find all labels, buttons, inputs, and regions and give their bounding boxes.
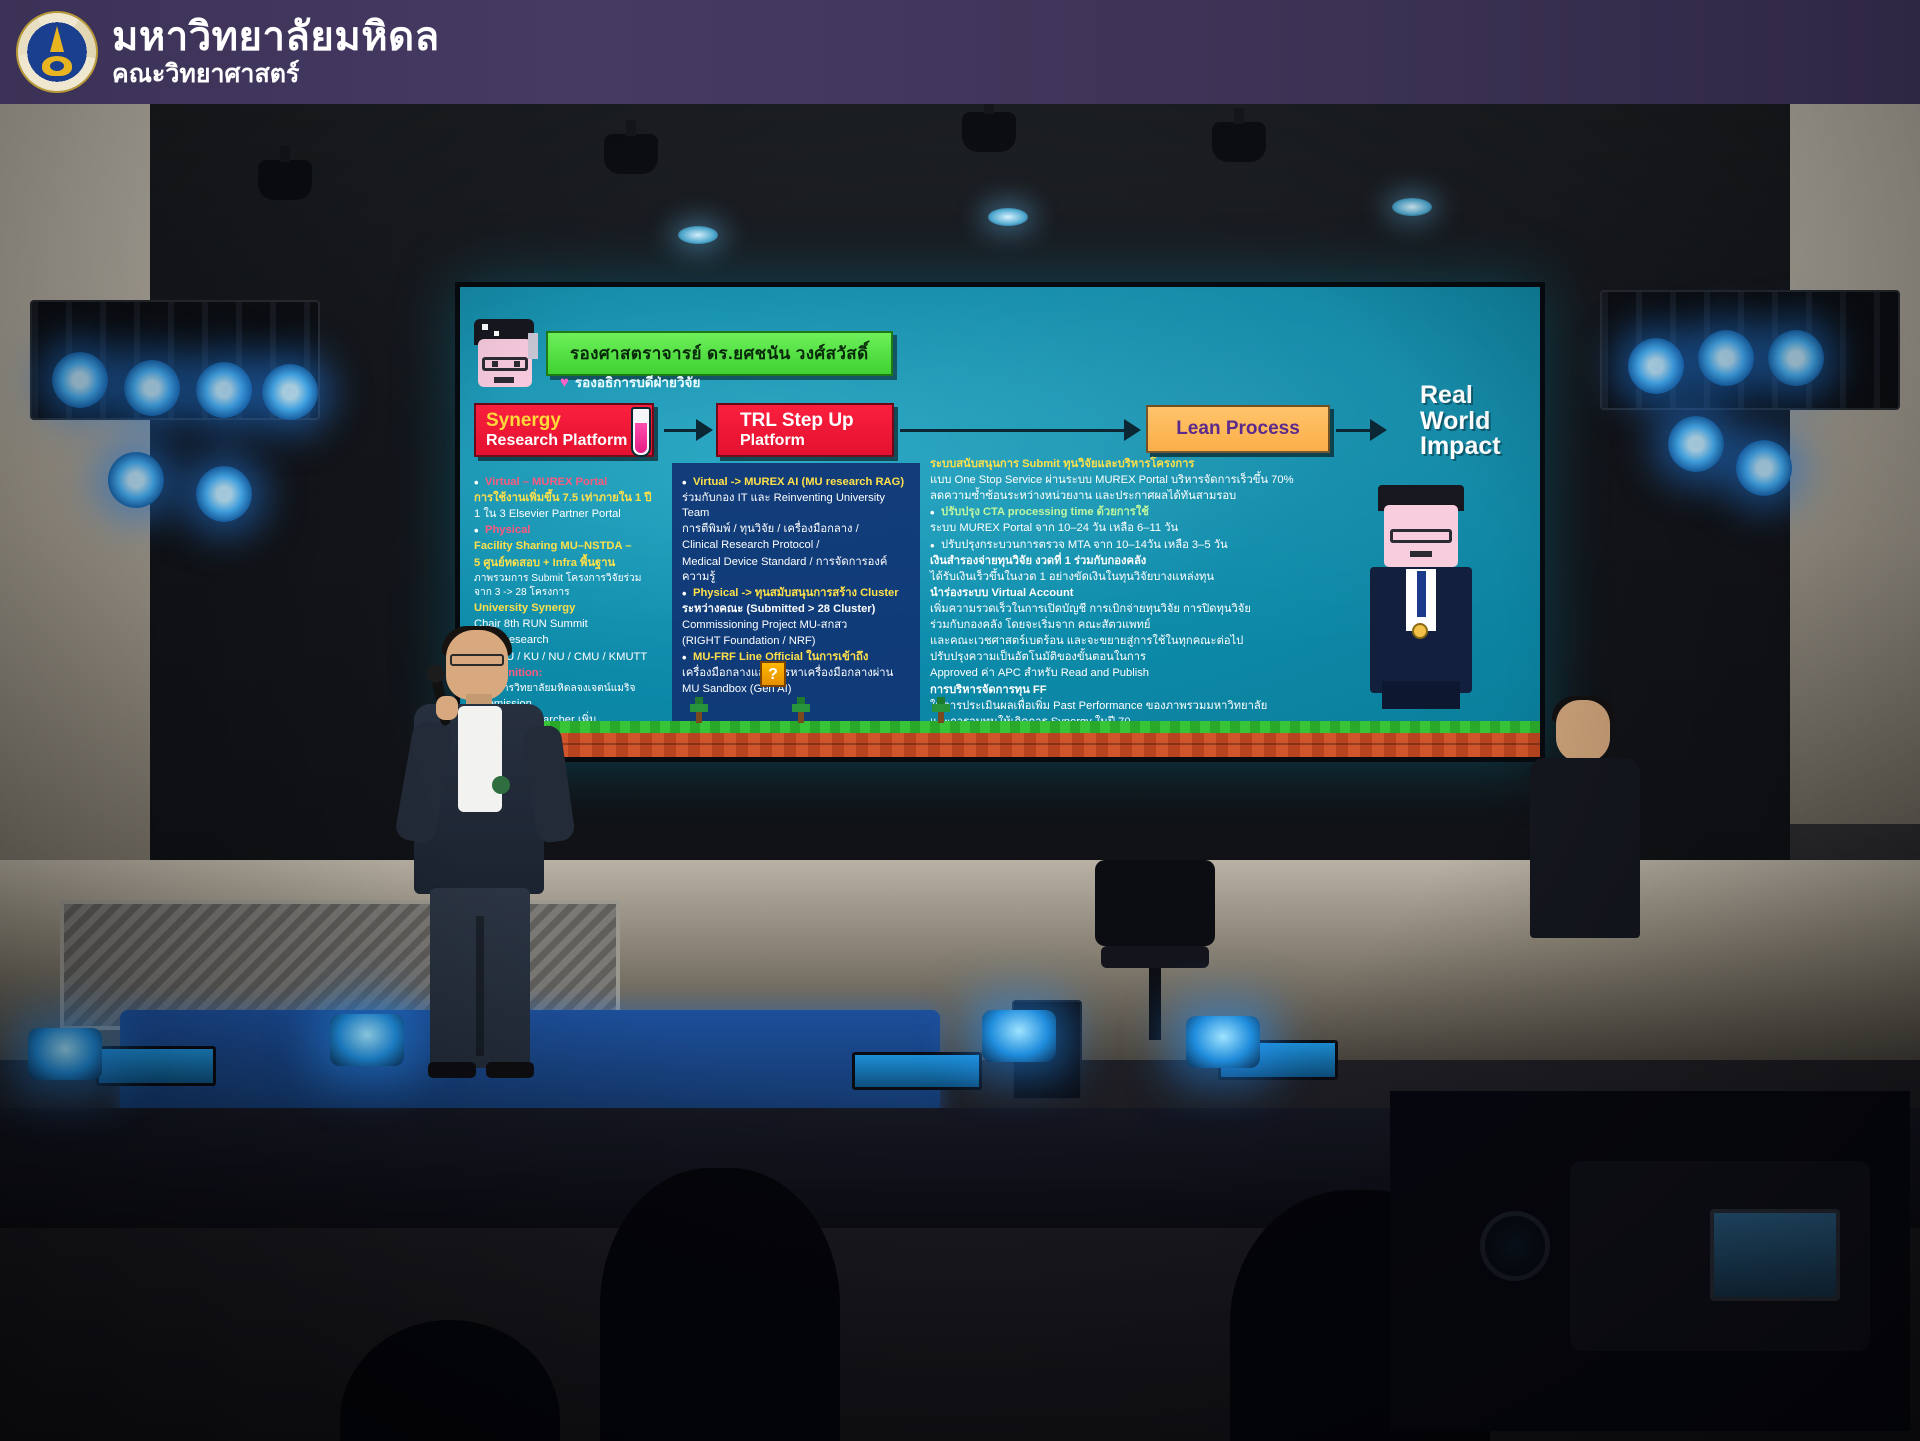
slide-column-middle: Virtual -> MUREX AI (MU research RAG)ร่ว… (672, 463, 920, 735)
spotlight-icon (1212, 122, 1266, 162)
test-tube-icon (631, 407, 651, 457)
slide-text-line: MU Sandbox (Gen AI) (682, 682, 910, 697)
slide-text-line: Medical Device Standard / การจัดการองค์ค… (682, 555, 910, 585)
stage-monitor (852, 1052, 982, 1090)
slide-text-line: แบบ One Stop Service ผ่านระบบ MUREX Port… (930, 473, 1350, 488)
faculty-name: คณะวิทยาศาสตร์ (112, 61, 440, 87)
stage-light-icon (1736, 440, 1792, 496)
slide-text-line: Clinical Research Protocol / (682, 538, 910, 553)
stage-monitor (96, 1046, 216, 1086)
camera-viewfinder-screen (1710, 1209, 1840, 1301)
spotlight-icon (258, 160, 312, 200)
stage-light-icon (1668, 416, 1724, 472)
pixel-avatar-icon (472, 319, 538, 391)
arrow-icon (1370, 419, 1387, 441)
slide-text-line: และคณะเวชศาสตร์เบตร้อน และจะขยายสู่การใช… (930, 634, 1350, 649)
question-block-icon: ? (760, 661, 786, 687)
stage-light-icon (124, 360, 180, 416)
wash-light-icon (330, 1014, 404, 1066)
slide-text-line: Virtual – MUREX Portal (474, 475, 674, 490)
slide-text-line: ปรับปรุง CTA processing time ด้วยการใช้ (930, 505, 1350, 520)
stage-light-icon (196, 466, 252, 522)
spotlight-icon (962, 112, 1016, 152)
slide-text-line: เงินสำรองจ่ายทุนวิจัย งวดที่ 1 ร่วมกับกอ… (930, 554, 1350, 569)
slide-text-line: Approved ค่า APC สำหรับ Read and Publish (930, 666, 1350, 681)
stage-light-icon (1628, 338, 1684, 394)
stage-chair (1095, 860, 1215, 1040)
stage-light-icon (108, 452, 164, 508)
stage-light-icon (52, 352, 108, 408)
speaker-role: ♥ รองอธิการบดีฝ่ายวิจัย (560, 371, 700, 393)
wash-light-icon (982, 1010, 1056, 1062)
wash-light-icon (1186, 1016, 1260, 1068)
stage-light-icon (1698, 330, 1754, 386)
slide-text-line: ปรับปรุงความเป็นอัตโนมัติของขั้นตอนในการ (930, 650, 1350, 665)
slide-text-line: (RIGHT Foundation / NRF) (682, 634, 910, 649)
slide-text-line: การบริหารจัดการทุน FF (930, 683, 1350, 698)
slide-text-line: ร่วมกับกอง IT และ Reinventing University… (682, 491, 910, 521)
ceiling-light-icon (678, 226, 718, 244)
page-header: มหาวิทยาลัยมหิดล คณะวิทยาศาสตร์ (0, 0, 1920, 104)
real-world-impact-label: Real World Impact (1420, 383, 1501, 460)
stage-light-icon (196, 362, 252, 418)
slide-column-right: ระบบสนับสนุนการ Submit ทุนวิจัยและบริหาร… (930, 457, 1350, 731)
pixel-tree-icon (930, 697, 952, 723)
stage-light-icon (262, 364, 318, 420)
speaker-name-banner: รองศาสตราจารย์ ดร.ยศชนัน วงศ์สวัสดิ์ (546, 331, 893, 376)
slide-text-line: การตีพิมพ์ / ทุนวิจัย / เครื่องมือกลาง / (682, 522, 910, 537)
flow-box-trl[interactable]: TRL Step Up Platform (716, 403, 894, 457)
slide-text-line: ระหว่างคณะ (Submitted > 28 Cluster) (682, 602, 910, 617)
stage-light-icon (1768, 330, 1824, 386)
slide-text-line: Physical (474, 523, 674, 538)
slide-text-line: จาก 3 -> 28 โครงการ (474, 586, 674, 600)
slide-text-line: Virtual -> MUREX AI (MU research RAG) (682, 475, 910, 490)
slide-text-line: เครื่องมือกลางและการหาเครื่องมือกลางผ่าน (682, 666, 910, 681)
slide-text-line: MU-FRF Line Official ในการเข้าถึง (682, 650, 910, 665)
ceiling-light-icon (1392, 198, 1432, 216)
process-flow: Synergy Research Platform TRL Step Up Pl… (460, 399, 1545, 463)
slide-text-line: ระบบสนับสนุนการ Submit ทุนวิจัยและบริหาร… (930, 457, 1350, 472)
heart-icon: ♥ (560, 374, 569, 391)
slide-text-line: University Synergy (474, 601, 674, 616)
audience-silhouette (600, 1168, 840, 1441)
ceiling-light-icon (988, 208, 1028, 226)
presentation-screen: รองศาสตราจารย์ ดร.ยศชนัน วงศ์สวัสดิ์ ♥ ร… (455, 282, 1545, 762)
slide-text-line: ปรับปรุงกระบวนการตรวจ MTA จาก 10–14วัน เ… (930, 538, 1350, 553)
slide-text-line: เพิ่มความรวดเร็วในการเปิดบัญชี การเบิกจ่… (930, 602, 1350, 617)
arrow-icon (696, 419, 713, 441)
flow-box-synergy[interactable]: Synergy Research Platform (474, 403, 654, 457)
wash-light-icon (28, 1028, 102, 1080)
presenter (400, 630, 570, 1090)
camera-operator-rig (1390, 1091, 1910, 1431)
slide-text-line: Physical -> ทุนสมับสนุนการสร้าง Cluster (682, 586, 910, 601)
flow-box-lean[interactable]: Lean Process (1146, 405, 1330, 453)
conference-photo: รองศาสตราจารย์ ดร.ยศชนัน วงศ์สวัสดิ์ ♥ ร… (0, 0, 1920, 1441)
pixel-ground (460, 705, 1545, 757)
slide-text-line: ระบบ MUREX Portal จาก 10–24 วัน เหลือ 6–… (930, 521, 1350, 536)
slide-text-line: Commissioning Project MU-สกสว (682, 618, 910, 633)
spotlight-icon (604, 134, 658, 174)
slide-text-line: ลดความซ้ำซ้อนระหว่างหน่วยงาน และประกาศผล… (930, 489, 1350, 504)
arrow-icon (1124, 419, 1141, 441)
slide-text-line: ได้รับเงินเร็วขึ้นในงวด 1 อย่างขัดเงินใน… (930, 570, 1350, 585)
pixel-tree-icon (688, 697, 710, 723)
university-name: มหาวิทยาลัยมหิดล (112, 16, 440, 58)
pixel-person-icon (1362, 485, 1480, 711)
mahidol-university-seal-icon (18, 13, 96, 91)
slide-text-line: ร่วมกับกองคลัง โดยจะเริ่มจาก คณะสัตวแพทย… (930, 618, 1350, 633)
slide-text-line: 1 ใน 3 Elsevier Partner Portal (474, 507, 674, 522)
slide-text-line: ภาพรวมการ Submit โครงการวิจัยร่วม (474, 572, 674, 586)
pixel-tree-icon (790, 697, 812, 723)
slide-text-line: 5 ศูนย์ทดสอบ + Infra พื้นฐาน (474, 556, 674, 571)
slide-text-line: การใช้งานเพิ่มขึ้น 7.5 เท่าภายใน 1 ปี (474, 491, 674, 506)
slide-text-line: Facility Sharing MU–NSTDA – (474, 539, 674, 554)
camera-lens-icon (1480, 1211, 1550, 1281)
slide-text-line: นำร่องระบบ Virtual Account (930, 586, 1350, 601)
audience-member-standing (1520, 700, 1650, 1000)
right-wall (1790, 104, 1920, 824)
